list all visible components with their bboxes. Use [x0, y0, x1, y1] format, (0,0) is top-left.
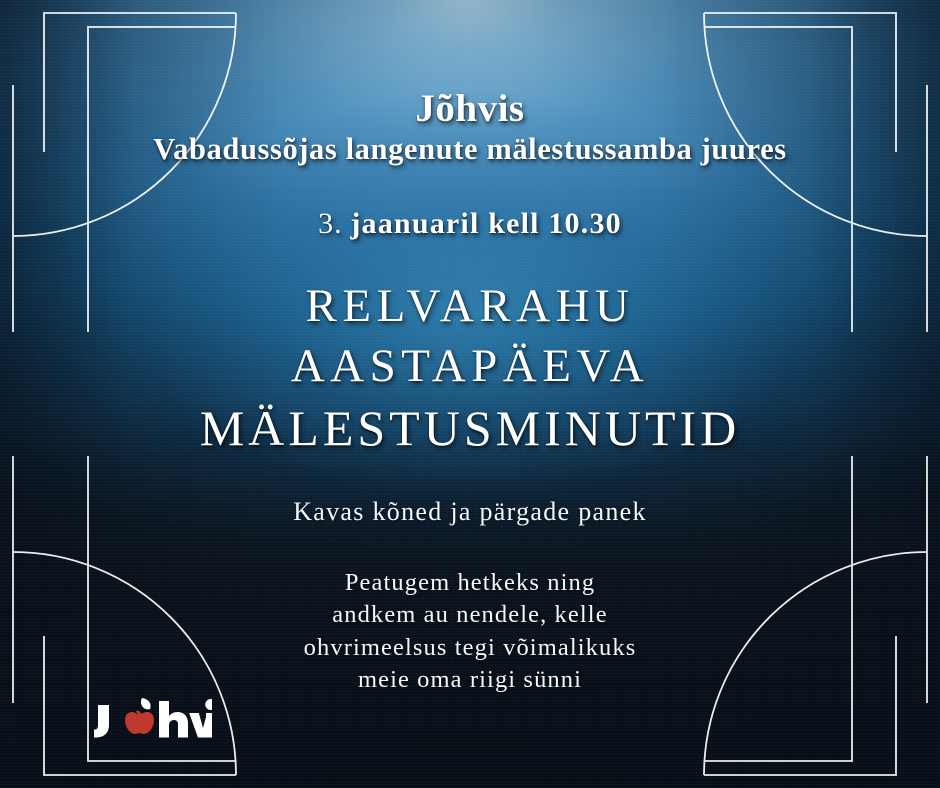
verse-line-3: ohvrimeelsus tegi võimalikuks [304, 632, 637, 664]
verse-line-1: Peatugem hetkeks ning [304, 567, 637, 599]
headline-line-2: AASTAPÄEVA [200, 336, 741, 396]
johvi-logo [94, 694, 212, 740]
location-primary: Jõhvis [415, 88, 524, 129]
logo-letter-i-stem [206, 713, 212, 738]
event-time: jaanuaril kell 10.30 [350, 207, 622, 240]
event-datetime: 3. jaanuaril kell 10.30 [318, 207, 622, 240]
logo-letter-j [94, 705, 109, 738]
event-day: 3. [318, 207, 343, 240]
logo-apple-icon [125, 711, 154, 734]
poster-content: Jõhvis Vabadussõjas langenute mälestussa… [0, 0, 940, 788]
headline-line-1: RELVARAHU [200, 276, 741, 336]
logo-letter-h [159, 701, 188, 738]
event-headline: RELVARAHU AASTAPÄEVA MÄLESTUSMINUTID [200, 276, 741, 460]
location-secondary: Vabadussõjas langenute mälestussamba juu… [153, 133, 786, 167]
memorial-verse: Peatugem hetkeks ning andkem au nendele,… [304, 567, 637, 695]
program-description: Kavas kõned ja pärgade panek [293, 496, 647, 527]
verse-line-2: andkem au nendele, kelle [304, 599, 637, 631]
poster-canvas: Jõhvis Vabadussõjas langenute mälestussa… [0, 0, 940, 788]
verse-line-4: meie oma riigi sünni [304, 664, 637, 696]
headline-line-3: MÄLESTUSMINUTID [200, 396, 741, 460]
logo-leaf-icon [141, 698, 151, 709]
logo-letter-i-dot [205, 699, 212, 710]
